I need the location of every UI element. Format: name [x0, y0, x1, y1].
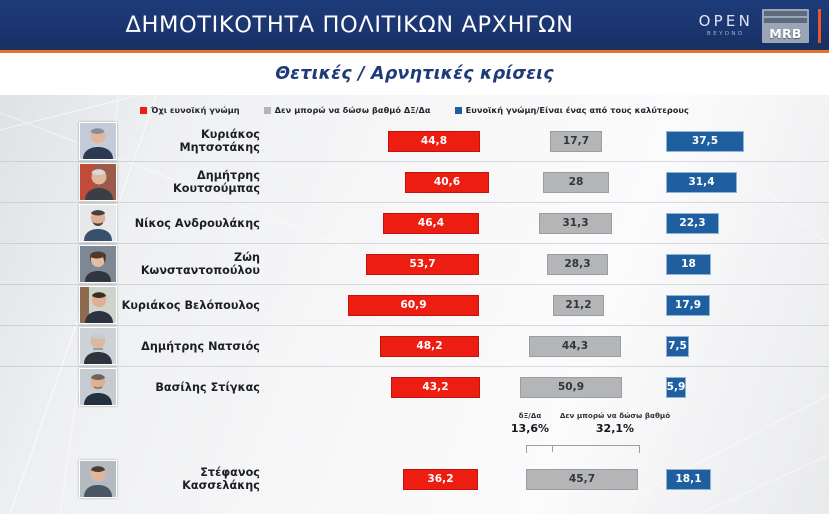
- annotation-right-value: 32,1%: [552, 422, 678, 435]
- bar-value-positive: 18,1: [675, 473, 701, 485]
- table-row: Νίκος Ανδρουλάκης 46,4 31,3 22,3: [0, 203, 829, 244]
- bar-dontknow: 44,3: [529, 336, 621, 357]
- bar-value-positive: 5,9: [667, 381, 686, 393]
- annotation-left-value: 13,6%: [500, 422, 560, 435]
- bar-negative: 46,4: [383, 213, 479, 234]
- avatar: [79, 460, 117, 498]
- bar-positive: 18: [666, 254, 711, 275]
- candidate-name: Βασίλης Στίγκας: [120, 381, 260, 394]
- candidate-name: Κυριάκος Βελόπουλος: [120, 299, 260, 312]
- bar-value-dontknow: 50,9: [558, 381, 584, 393]
- legend-swatch-dontknow: [264, 107, 271, 114]
- annotation-row: δΞ/Δα 13,6% Δεν μπορώ να δώσω βαθμό 32,1…: [0, 407, 829, 459]
- bar-positive: 22,3: [666, 213, 719, 234]
- accent-stripe: [818, 9, 821, 43]
- annotation-bracket-divider: [552, 445, 553, 452]
- annotation-left-caption: δΞ/Δα: [500, 411, 560, 420]
- legend-swatch-positive: [455, 107, 462, 114]
- table-row: Βασίλης Στίγκας 43,2 50,9 5,9: [0, 367, 829, 407]
- legend-item-dontknow: Δεν μπορώ να δώσω βαθμό ΔΞ/Δα: [264, 105, 431, 115]
- bar-value-dontknow: 44,3: [562, 340, 588, 352]
- candidate-name: Ζώη Κωνσταντοπούλου: [120, 251, 260, 277]
- legend-swatch-negative: [140, 107, 147, 114]
- bar-value-dontknow: 31,3: [562, 217, 588, 229]
- chart-area: Όχι ευνοϊκή γνώμη Δεν μπορώ να δώσω βαθμ…: [0, 95, 829, 514]
- bar-value-negative: 48,2: [416, 340, 442, 352]
- bar-dontknow: 31,3: [539, 213, 612, 234]
- bar-negative: 40,6: [405, 172, 489, 193]
- bar-negative: 60,9: [348, 295, 479, 316]
- legend-label-negative: Όχι ευνοϊκή γνώμη: [151, 105, 240, 115]
- open-logo-text: OPEN: [699, 14, 753, 29]
- bar-value-negative: 36,2: [427, 473, 453, 485]
- bar-negative: 53,7: [366, 254, 479, 275]
- table-row: Στέφανος Κασσελάκης 36,2 45,7 18,1: [0, 459, 829, 499]
- bar-dontknow: 50,9: [520, 377, 622, 398]
- bar-positive: 5,9: [666, 377, 686, 398]
- candidate-name: Νίκος Ανδρουλάκης: [120, 217, 260, 230]
- open-beyond-logo: OPEN BEYOND: [699, 14, 753, 38]
- candidate-name: Στέφανος Κασσελάκης: [120, 466, 260, 492]
- bar-value-dontknow: 28,3: [564, 258, 590, 270]
- bar-dontknow: 21,2: [553, 295, 604, 316]
- bar-value-negative: 43,2: [422, 381, 448, 393]
- bar-negative: 48,2: [380, 336, 479, 357]
- avatar: [79, 163, 117, 201]
- bar-positive: 17,9: [666, 295, 710, 316]
- bar-dontknow: 17,7: [550, 131, 602, 152]
- bar-value-negative: 46,4: [418, 217, 444, 229]
- mrb-logo-text: MRB: [764, 25, 807, 41]
- bar-value-positive: 31,4: [688, 176, 714, 188]
- legend-item-negative: Όχι ευνοϊκή γνώμη: [140, 105, 240, 115]
- subtitle: Θετικές / Αρνητικές κρίσεις: [275, 64, 554, 84]
- avatar: [79, 204, 117, 242]
- avatar: [79, 245, 117, 283]
- candidate-name: Δημήτρης Κουτσούμπας: [120, 169, 260, 195]
- bar-value-dontknow: 17,7: [563, 135, 589, 147]
- bar-dontknow: 45,7: [526, 469, 638, 490]
- bar-value-dontknow: 21,2: [565, 299, 591, 311]
- chart-rows: Κυριάκος Μητσοτάκης 44,8 17,7 37,5 Δημήτ…: [0, 121, 829, 499]
- bar-positive: 37,5: [666, 131, 744, 152]
- bar-value-positive: 22,3: [679, 217, 705, 229]
- bar-value-positive: 18: [681, 258, 696, 270]
- bar-dontknow: 28,3: [547, 254, 608, 275]
- bar-value-negative: 53,7: [409, 258, 435, 270]
- bar-value-negative: 60,9: [400, 299, 426, 311]
- bar-value-dontknow: 45,7: [569, 473, 595, 485]
- bar-positive: 31,4: [666, 172, 737, 193]
- logo-group: OPEN BEYOND MRB: [699, 6, 821, 46]
- annotation-right: Δεν μπορώ να δώσω βαθμό 32,1%: [552, 411, 678, 435]
- legend-label-dontknow: Δεν μπορώ να δώσω βαθμό ΔΞ/Δα: [275, 105, 431, 115]
- annotation-right-caption: Δεν μπορώ να δώσω βαθμό: [552, 411, 678, 420]
- annotation-left: δΞ/Δα 13,6%: [500, 411, 560, 435]
- mrb-logo: MRB: [762, 9, 809, 43]
- legend-item-positive: Ευνοϊκή γνώμη/Είναι ένας από τους καλύτε…: [455, 105, 689, 115]
- bar-negative: 44,8: [388, 131, 480, 152]
- table-row: Κυριάκος Μητσοτάκης 44,8 17,7 37,5: [0, 121, 829, 162]
- annotation-group: δΞ/Δα 13,6% Δεν μπορώ να δώσω βαθμό 32,1…: [0, 407, 829, 459]
- bar-negative: 36,2: [403, 469, 478, 490]
- candidate-name: Δημήτρης Νατσιός: [120, 340, 260, 353]
- annotation-bracket: [526, 445, 640, 453]
- legend: Όχι ευνοϊκή γνώμη Δεν μπορώ να δώσω βαθμ…: [0, 101, 829, 119]
- bar-value-negative: 40,6: [434, 176, 460, 188]
- candidate-name: Κυριάκος Μητσοτάκης: [120, 128, 260, 154]
- legend-label-positive: Ευνοϊκή γνώμη/Είναι ένας από τους καλύτε…: [466, 105, 689, 115]
- bar-positive: 7,5: [666, 336, 689, 357]
- mrb-logo-bars: [764, 11, 807, 23]
- table-row: Δημήτρης Κουτσούμπας 40,6 28 31,4: [0, 162, 829, 203]
- open-logo-subtext: BEYOND: [707, 32, 745, 38]
- avatar: [79, 122, 117, 160]
- subtitle-band: Θετικές / Αρνητικές κρίσεις: [0, 53, 829, 95]
- avatar: [79, 368, 117, 406]
- header-bar: ΔΗΜΟΤΙΚΟΤΗΤΑ ΠΟΛΙΤΙΚΩΝ ΑΡΧΗΓΩΝ OPEN BEYO…: [0, 0, 829, 53]
- bar-negative: 43,2: [391, 377, 480, 398]
- table-row: Ζώη Κωνσταντοπούλου 53,7 28,3 18: [0, 244, 829, 285]
- bar-value-positive: 17,9: [675, 299, 701, 311]
- bar-value-positive: 7,5: [668, 340, 687, 352]
- avatar: [79, 327, 117, 365]
- bar-positive: 18,1: [666, 469, 711, 490]
- table-row: Κυριάκος Βελόπουλος 60,9 21,2 17,9: [0, 285, 829, 326]
- bar-value-dontknow: 28: [569, 176, 584, 188]
- table-row: Δημήτρης Νατσιός 48,2 44,3 7,5: [0, 326, 829, 367]
- avatar: [79, 286, 117, 324]
- bar-dontknow: 28: [543, 172, 609, 193]
- bar-value-negative: 44,8: [421, 135, 447, 147]
- bar-value-positive: 37,5: [692, 135, 718, 147]
- slide-root: ΔΗΜΟΤΙΚΟΤΗΤΑ ΠΟΛΙΤΙΚΩΝ ΑΡΧΗΓΩΝ OPEN BEYO…: [0, 0, 829, 514]
